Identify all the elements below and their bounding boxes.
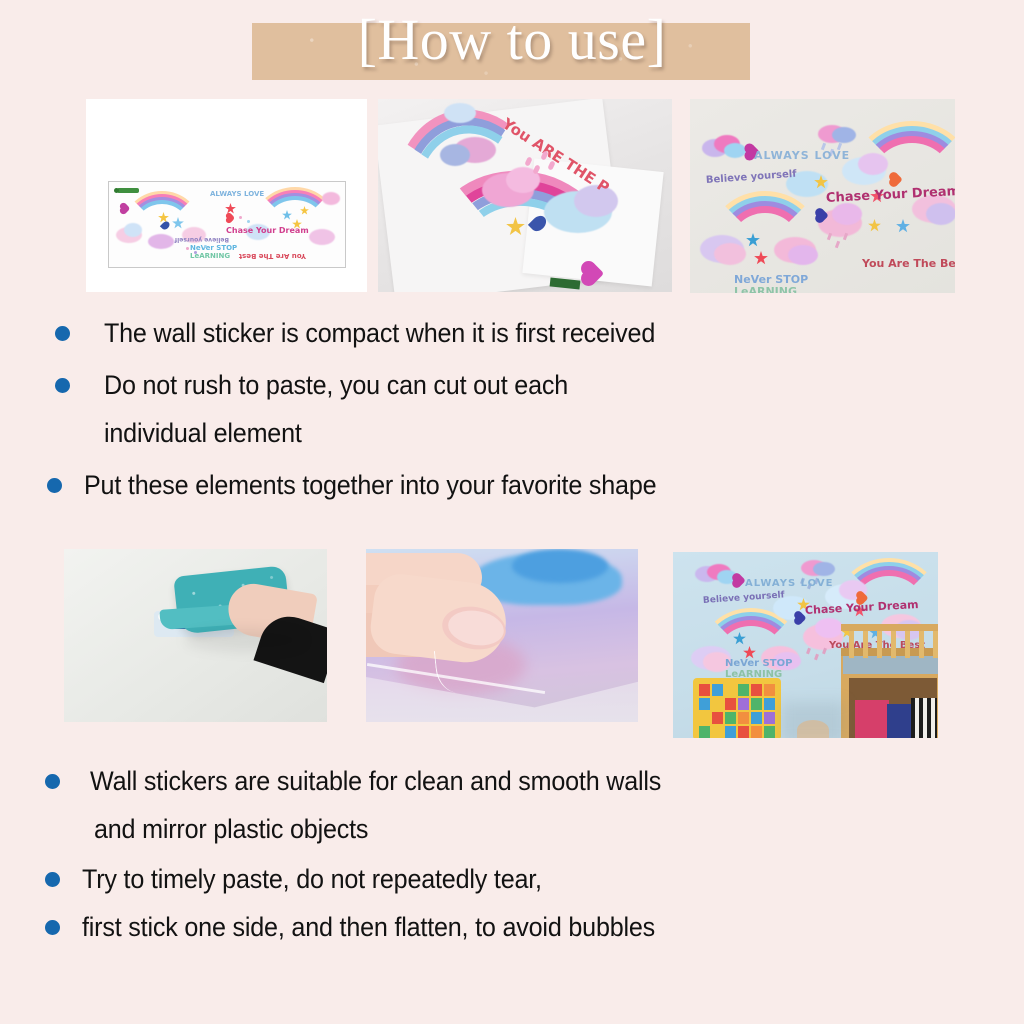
sticker-text-chase-your-dream: Chase Your Dream xyxy=(226,226,309,235)
title-banner: [How to use] xyxy=(252,23,750,80)
instruction-text-wrap: individual element xyxy=(104,414,568,452)
instruction-text-wrap: and mirror plastic objects xyxy=(94,810,661,848)
instruction-item: Wall stickers are suitable for clean and… xyxy=(45,762,985,848)
instruction-item: Put these elements together into your fa… xyxy=(47,466,975,504)
instructions-top-list: The wall sticker is compact when it is f… xyxy=(55,314,975,504)
photo-finished-kids-room: ALWAYS LOVE Believe yourself Chase Your … xyxy=(673,552,938,738)
instruction-text: Put these elements together into your fa… xyxy=(84,466,656,504)
instruction-item: Do not rush to paste, you can cut out ea… xyxy=(55,366,975,452)
poster-page: [How to use] xyxy=(0,0,1024,1024)
instruction-text: Do not rush to paste, you can cut out ea… xyxy=(104,366,568,404)
instructions-bottom-list: Wall stickers are suitable for clean and… xyxy=(45,762,985,946)
bullet-icon xyxy=(45,872,60,887)
instruction-text: Wall stickers are suitable for clean and… xyxy=(90,762,661,800)
wall-text-always-love: ALWAYS LOVE xyxy=(754,149,850,162)
bullet-icon xyxy=(47,478,62,493)
instruction-item: The wall sticker is compact when it is f… xyxy=(55,314,975,352)
photo-packaged-sticker-sheet: ALWAYS LOVE Chase Your Dream Believe you… xyxy=(86,99,367,292)
photo-assembled-arrangement: ALWAYS LOVE Believe yourself Chase Your … xyxy=(690,99,955,293)
bullet-icon xyxy=(55,326,70,341)
room-text-always-love: ALWAYS LOVE xyxy=(745,578,833,589)
instruction-text: first stick one side, and then flatten, … xyxy=(82,908,655,946)
wall-text-learning: LeARNING xyxy=(734,285,797,293)
bullet-icon xyxy=(45,920,60,935)
sticker-text-always-love: ALWAYS LOVE xyxy=(210,190,264,198)
sticker-text-you-are-the-best: You Are The Best xyxy=(239,252,306,260)
sticker-text-never-stop: NeVer STOP xyxy=(190,244,237,252)
photo-peel-backing-film xyxy=(366,549,638,722)
bullet-icon xyxy=(55,378,70,393)
photo-cut-out-elements: You ARE THE P xyxy=(378,99,672,292)
photo-clean-wall-with-towel xyxy=(64,549,327,722)
bullet-icon xyxy=(45,774,60,789)
page-title: [How to use] xyxy=(0,1,1024,79)
sticker-text-believe-yourself: Believe yourself xyxy=(175,236,229,243)
wall-text-you-are-the-best: You Are The Best xyxy=(862,257,955,270)
instruction-text: Try to timely paste, do not repeatedly t… xyxy=(82,860,542,898)
instruction-item: first stick one side, and then flatten, … xyxy=(45,908,985,946)
instruction-text: The wall sticker is compact when it is f… xyxy=(104,314,655,352)
instruction-item: Try to timely paste, do not repeatedly t… xyxy=(45,860,985,898)
room-text-never-stop: NeVer STOP xyxy=(725,658,792,669)
